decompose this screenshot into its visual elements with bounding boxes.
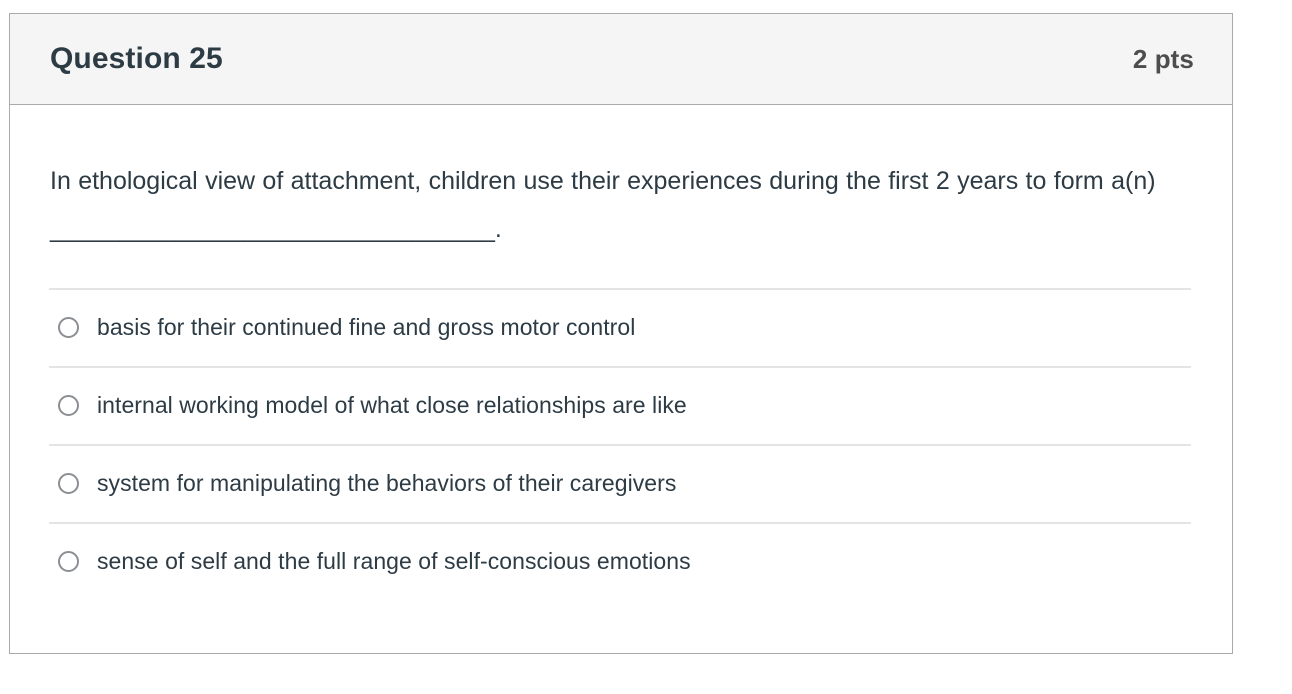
radio-unchecked-icon[interactable] — [58, 473, 79, 494]
answer-option-a[interactable]: basis for their continued fine and gross… — [49, 288, 1191, 366]
answer-option-b[interactable]: internal working model of what close rel… — [49, 366, 1191, 444]
answer-option-label: sense of self and the full range of self… — [97, 547, 691, 577]
answer-option-label: internal working model of what close rel… — [97, 391, 687, 421]
radio-unchecked-icon[interactable] — [58, 317, 79, 338]
answer-option-label: basis for their continued fine and gross… — [97, 313, 635, 343]
question-points-badge: 2 pts — [1133, 44, 1194, 75]
answer-option-d[interactable]: sense of self and the full range of self… — [49, 522, 1191, 600]
answer-options-list: basis for their continued fine and gross… — [10, 288, 1232, 600]
radio-unchecked-icon[interactable] — [58, 551, 79, 572]
question-body: In ethological view of attachment, child… — [10, 105, 1232, 600]
question-prompt-text: In ethological view of attachment, child… — [10, 105, 1232, 254]
radio-unchecked-icon[interactable] — [58, 395, 79, 416]
question-title: Question 25 — [50, 41, 223, 77]
answer-option-c[interactable]: system for manipulating the behaviors of… — [49, 444, 1191, 522]
answer-option-label: system for manipulating the behaviors of… — [97, 469, 676, 499]
question-card: Question 25 2 pts In ethological view of… — [9, 13, 1233, 654]
question-header: Question 25 2 pts — [10, 14, 1232, 105]
